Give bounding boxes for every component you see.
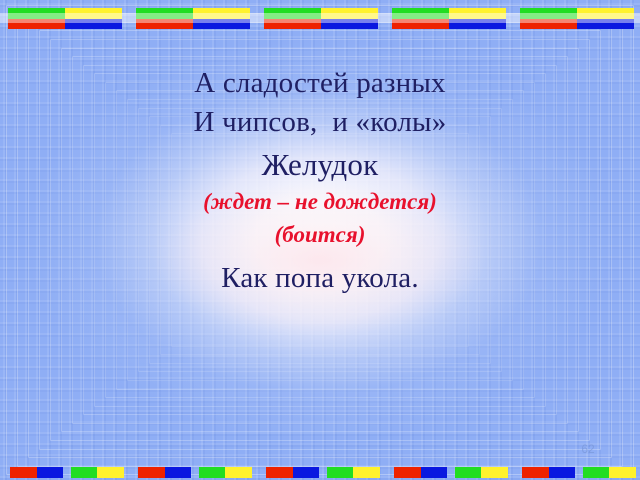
- color-block-blue: [549, 467, 576, 478]
- color-block-green: [136, 8, 193, 19]
- color-block-yellow: [577, 8, 634, 19]
- bottom-decorative-color-strip: [0, 467, 640, 478]
- color-block-green: [199, 467, 226, 478]
- bottom-strip-unit: [512, 467, 640, 478]
- color-block-red: [8, 19, 65, 30]
- color-block-green: [264, 8, 321, 19]
- slide-number: 62: [568, 442, 608, 456]
- top-decorative-color-strip: [0, 8, 640, 29]
- color-block-red: [520, 19, 577, 30]
- color-block-yellow: [321, 8, 378, 19]
- top-strip-unit: [384, 8, 512, 29]
- color-block-red: [394, 467, 421, 478]
- color-block-blue: [577, 19, 634, 30]
- color-block-blue: [193, 19, 250, 30]
- strip-gap: [63, 467, 70, 478]
- strip-gap: [191, 467, 198, 478]
- bottom-strip-unit: [128, 467, 256, 478]
- color-block-green: [455, 467, 482, 478]
- color-block-blue: [37, 467, 64, 478]
- color-block-green: [520, 8, 577, 19]
- color-block-red: [136, 19, 193, 30]
- strip-gap: [447, 467, 454, 478]
- color-block-blue: [321, 19, 378, 30]
- color-block-blue: [65, 19, 122, 30]
- color-block-yellow: [609, 467, 636, 478]
- slide-text-block: А сладостей разных И чипсов, и «колы» Же…: [42, 66, 598, 296]
- bottom-strip-unit: [0, 467, 128, 478]
- color-block-blue: [449, 19, 506, 30]
- poem-line-1: А сладостей разных: [42, 66, 598, 101]
- top-strip-unit: [256, 8, 384, 29]
- color-block-green: [583, 467, 610, 478]
- color-block-green: [71, 467, 98, 478]
- color-block-red: [392, 19, 449, 30]
- poem-line-2: И чипсов, и «колы»: [42, 105, 598, 140]
- color-block-yellow: [65, 8, 122, 19]
- color-block-red: [10, 467, 37, 478]
- color-block-green: [8, 8, 65, 19]
- bottom-strip-unit: [384, 467, 512, 478]
- color-block-red: [138, 467, 165, 478]
- color-block-green: [327, 467, 354, 478]
- color-block-green: [392, 8, 449, 19]
- poem-line-4-emphasis: (ждет – не дождется): [42, 188, 598, 217]
- color-block-yellow: [449, 8, 506, 19]
- top-strip-unit: [512, 8, 640, 29]
- color-block-yellow: [225, 467, 252, 478]
- slide-canvas: А сладостей разных И чипсов, и «колы» Же…: [0, 0, 640, 480]
- color-block-yellow: [481, 467, 508, 478]
- color-block-red: [522, 467, 549, 478]
- poem-line-6: Как попа укола.: [42, 261, 598, 296]
- color-block-blue: [165, 467, 192, 478]
- poem-line-3: Желудок: [42, 146, 598, 184]
- top-strip-unit: [128, 8, 256, 29]
- strip-gap: [319, 467, 326, 478]
- color-block-yellow: [97, 467, 124, 478]
- strip-gap: [575, 467, 582, 478]
- bottom-strip-unit: [256, 467, 384, 478]
- color-block-blue: [293, 467, 320, 478]
- color-block-blue: [421, 467, 448, 478]
- top-strip-unit: [0, 8, 128, 29]
- poem-line-5-emphasis: (боится): [42, 221, 598, 250]
- color-block-red: [264, 19, 321, 30]
- color-block-red: [266, 467, 293, 478]
- color-block-yellow: [353, 467, 380, 478]
- color-block-yellow: [193, 8, 250, 19]
